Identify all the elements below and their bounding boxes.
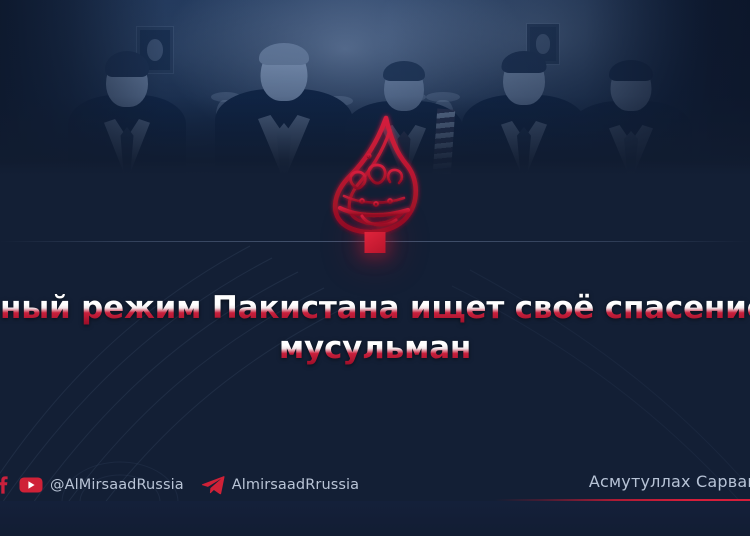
telegram-icon[interactable] xyxy=(201,475,225,495)
headline-line-2: мусульман xyxy=(0,328,750,368)
logo-accent-square xyxy=(365,232,386,253)
author-name: Асмутуллах Сарван xyxy=(589,472,750,491)
headline-line-1: ный режим Пакистана ищет своё спасение в… xyxy=(0,288,750,328)
headline: ный режим Пакистана ищет своё спасение в… xyxy=(0,288,750,369)
social-links: @AlMirsaadRussia AlmirsaadRrussia xyxy=(0,472,359,498)
footer-bar: @AlMirsaadRussia AlmirsaadRrussia Асмуту… xyxy=(0,466,750,536)
social-handle[interactable]: @AlMirsaadRussia xyxy=(50,477,184,493)
al-mirsaad-logo xyxy=(310,112,440,240)
telegram-handle[interactable]: AlmirsaadRrussia xyxy=(232,477,359,493)
facebook-icon[interactable] xyxy=(0,476,12,494)
telegram-link[interactable]: AlmirsaadRrussia xyxy=(201,475,359,495)
footer-fill xyxy=(0,501,750,536)
video-thumbnail-frame: ный режим Пакистана ищет своё спасение в… xyxy=(0,0,750,536)
youtube-icon[interactable] xyxy=(19,476,43,494)
